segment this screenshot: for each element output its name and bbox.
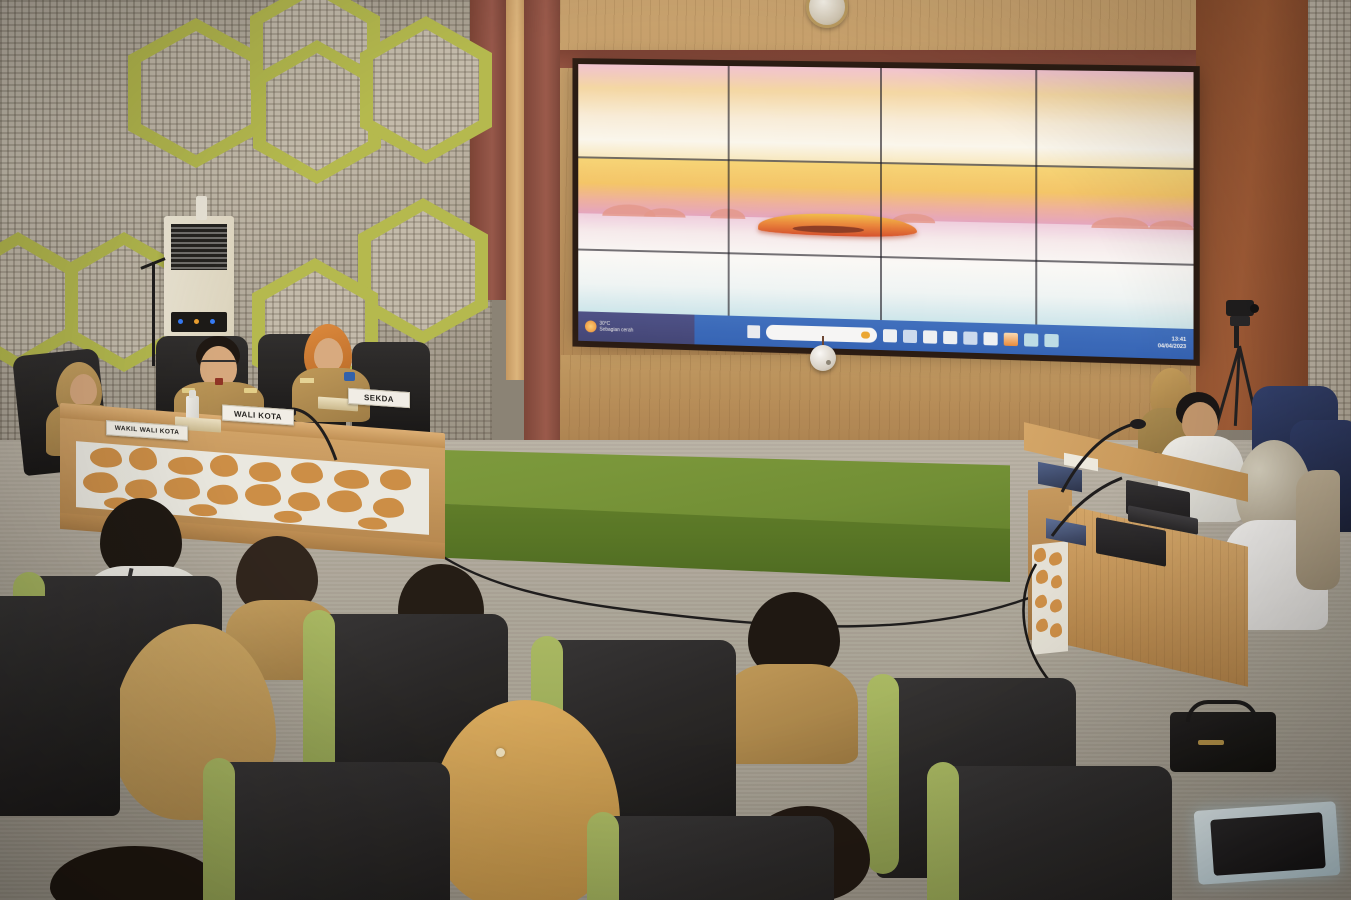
handbag-strap xyxy=(1186,700,1258,722)
nameplate-label: SEKDA xyxy=(364,392,394,403)
edge-icon[interactable] xyxy=(1024,333,1038,347)
wallpaper-sky-upper xyxy=(578,64,1193,170)
ac-led-indicator xyxy=(194,319,199,324)
audience-chair xyxy=(0,596,120,816)
chair-green-rim xyxy=(587,812,619,900)
cloud-icon[interactable] xyxy=(1044,333,1058,347)
chair-back xyxy=(0,596,120,816)
nameplate-label: WAKIL WALI KOTA xyxy=(115,425,180,437)
handbag-clasp-icon xyxy=(1198,740,1224,745)
weather-sun-icon xyxy=(585,320,597,332)
air-conditioner-unit xyxy=(164,216,234,338)
uniform-torso xyxy=(722,664,858,764)
chair-back xyxy=(936,766,1172,900)
mic-stand-pole xyxy=(152,262,155,366)
chair-back xyxy=(212,762,450,900)
audience-chair xyxy=(212,762,450,900)
chair-green-rim xyxy=(203,758,235,900)
meeting-room-photo: 30°C Sebagian cerah 13:4 xyxy=(0,0,1351,900)
camera-head-mount xyxy=(1230,316,1250,326)
clock-date: 04/04/2023 xyxy=(1113,342,1186,351)
uniform-collar-badge xyxy=(344,372,355,381)
video-wall-bezel xyxy=(880,68,882,350)
uniform-collar-badge xyxy=(215,378,223,385)
chrome-icon[interactable] xyxy=(1003,332,1017,346)
hijab-pin-icon xyxy=(496,748,505,757)
face xyxy=(314,338,343,372)
ac-led-indicator xyxy=(210,319,215,324)
settings-icon[interactable] xyxy=(983,332,997,346)
store-icon[interactable] xyxy=(943,330,957,343)
nameplate-label: WALI KOTA xyxy=(234,409,282,421)
ac-vent-grille xyxy=(171,224,227,270)
audience-chair xyxy=(936,766,1172,900)
taskbar-clock[interactable]: 13:41 04/04/2023 xyxy=(1113,335,1194,352)
chair-back xyxy=(596,816,834,900)
name-badge xyxy=(300,378,314,383)
video-wall-bezel xyxy=(728,66,730,345)
teams-icon[interactable] xyxy=(902,329,916,342)
search-input[interactable] xyxy=(766,324,877,342)
file-explorer-icon[interactable] xyxy=(923,330,937,343)
widgets-icon[interactable] xyxy=(882,329,896,342)
mail-icon[interactable] xyxy=(963,331,977,344)
weather-condition: Sebagian cerah xyxy=(599,327,633,334)
hand-sanitizer-pump xyxy=(189,390,196,398)
taskbar-weather-widget[interactable]: 30°C Sebagian cerah xyxy=(578,311,694,344)
taskbar-icon-group[interactable] xyxy=(694,322,1113,349)
face xyxy=(70,374,97,406)
camera-lens-icon xyxy=(1250,304,1259,313)
eyeglasses-icon xyxy=(200,360,237,366)
rank-insignia xyxy=(244,388,257,393)
audience-chair xyxy=(596,816,834,900)
ac-remote-holder xyxy=(196,196,207,220)
video-wall-display[interactable]: 30°C Sebagian cerah 13:4 xyxy=(578,64,1193,360)
closed-laptop[interactable] xyxy=(1210,812,1326,876)
start-icon[interactable] xyxy=(747,325,760,338)
video-wall-bezel xyxy=(1035,70,1037,355)
desk-cable-bundle xyxy=(1006,560,1126,690)
chair-green-rim xyxy=(927,762,959,900)
chair-green-rim xyxy=(867,674,899,874)
ceiling-speaker-icon xyxy=(810,345,836,371)
search-highlight-icon xyxy=(861,331,870,338)
ac-led-indicator xyxy=(178,319,183,324)
operator-microphone-gooseneck xyxy=(1040,470,1140,540)
scarf-drape xyxy=(1296,470,1340,590)
